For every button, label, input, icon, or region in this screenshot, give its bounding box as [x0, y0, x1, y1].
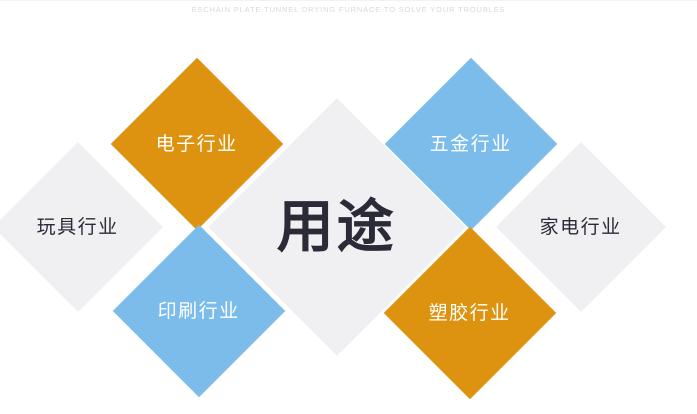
diamond-center-label: 用途 — [277, 199, 397, 256]
diamond-tile-toys-label: 玩具行业 — [37, 217, 119, 236]
diamond-tile-plastic-label: 塑胶行业 — [429, 303, 511, 322]
diamond-tile-printing-label: 印刷行业 — [158, 301, 240, 320]
diamond-tile-appliance-label: 家电行业 — [540, 217, 622, 236]
diamond-tile-hardware-label: 五金行业 — [430, 134, 512, 153]
diamond-diagram: 玩具行业 家电行业 电子行业 五金行业 印刷行业 塑胶行业 用途 — [0, 0, 697, 414]
diamond-tile-electronics-label: 电子行业 — [156, 134, 238, 153]
